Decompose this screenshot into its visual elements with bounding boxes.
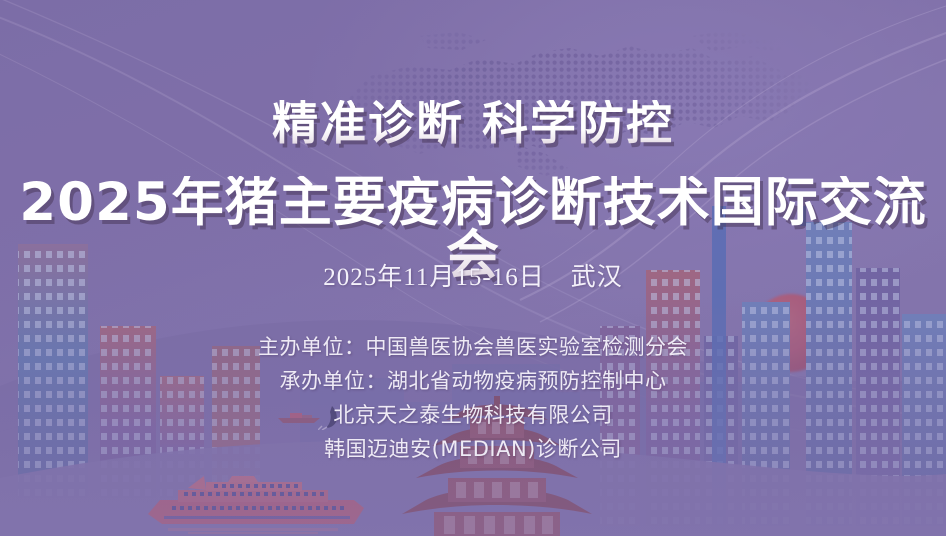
date-location: 2025年11月15-16日 武汉 — [0, 263, 946, 293]
poster-text: 精准诊断 科学防控 2025年猪主要疫病诊断技术国际交流会 2025年11月15… — [0, 0, 946, 536]
organizer-line-4: 韩国迈迪安(MEDIAN)诊断公司 — [0, 432, 946, 466]
organizer-list: 主办单位：中国兽医协会兽医实验室检测分会 承办单位：湖北省动物疫病预防控制中心 … — [0, 330, 946, 466]
organizer-line-2: 承办单位：湖北省动物疫病预防控制中心 — [0, 364, 946, 398]
organizer-line-3: 北京天之泰生物科技有限公司 — [0, 398, 946, 432]
poster-headline: 精准诊断 科学防控 — [0, 100, 946, 146]
conference-poster: 精准诊断 科学防控 2025年猪主要疫病诊断技术国际交流会 2025年11月15… — [0, 0, 946, 536]
organizer-line-1: 主办单位：中国兽医协会兽医实验室检测分会 — [0, 330, 946, 364]
